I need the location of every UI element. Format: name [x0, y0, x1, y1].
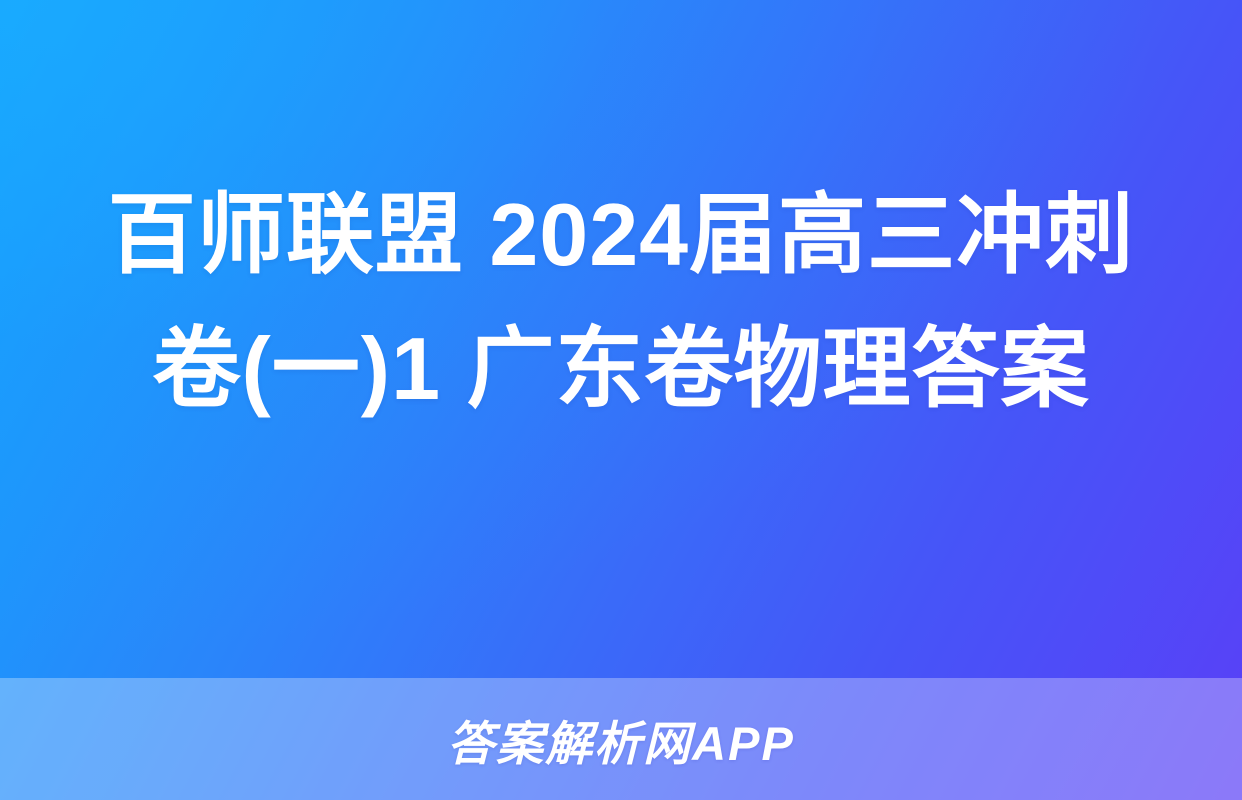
watermark-band: 答案解析网APP [0, 678, 1242, 800]
watermark-text: 答案解析网APP [447, 705, 795, 774]
title-block: 百师联盟 2024届高三冲刺卷(一)1 广东卷物理答案 [0, 168, 1242, 436]
page-title: 百师联盟 2024届高三冲刺卷(一)1 广东卷物理答案 [78, 168, 1164, 436]
cover-card: 百师联盟 2024届高三冲刺卷(一)1 广东卷物理答案 答案解析网APP [0, 0, 1242, 800]
